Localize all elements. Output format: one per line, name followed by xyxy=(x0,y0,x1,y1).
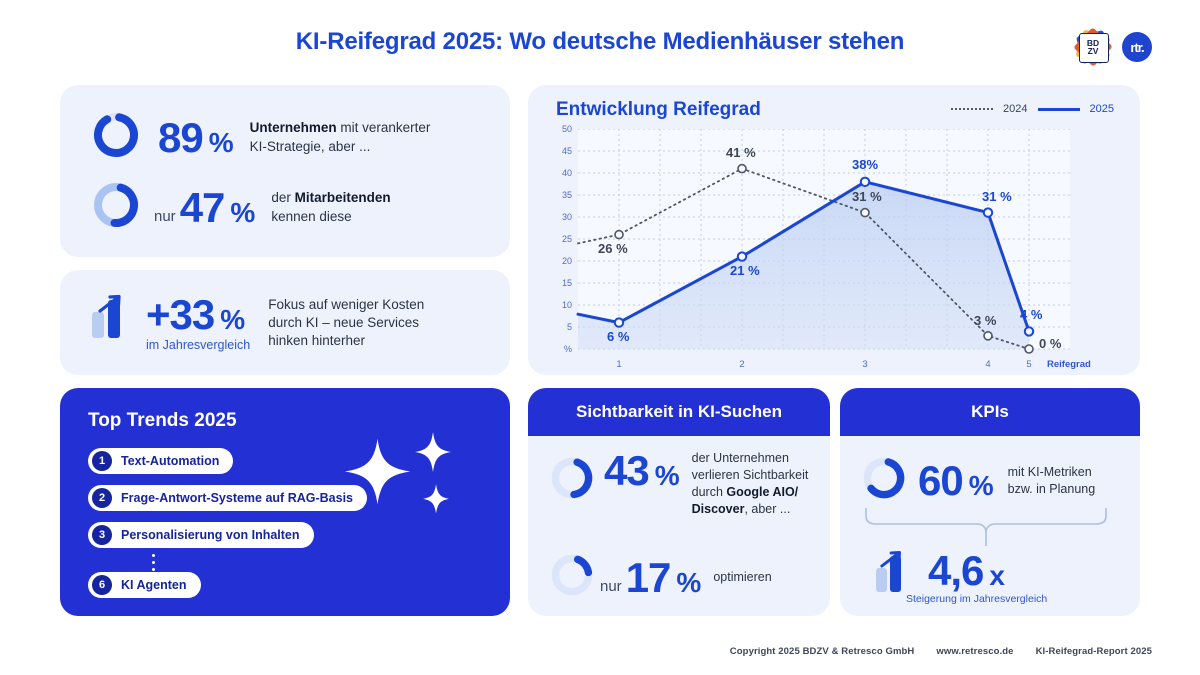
growth-desc-line1: Fokus auf weniger Kosten xyxy=(268,297,424,312)
retresco-logo: rtr. xyxy=(1122,32,1152,62)
stat-60-unit: % xyxy=(969,470,994,502)
chart-title: Entwicklung Reifegrad xyxy=(556,99,761,121)
legend-2024-label: 2024 xyxy=(1003,103,1027,115)
legend-2024-swatch xyxy=(951,108,993,110)
chart-label-2025-1: 6 % xyxy=(607,329,629,344)
chart-point-2024-4 xyxy=(984,332,992,340)
bdzv-logo: BD ZV xyxy=(1076,30,1110,64)
stat-89-value: 89 xyxy=(158,117,203,159)
growth-unit: % xyxy=(220,304,245,336)
trend-item-1-number: 1 xyxy=(92,451,112,471)
stat-60-description: mit KI-Metriken bzw. in Planung xyxy=(1008,464,1096,498)
trend-item-6-label: KI Agenten xyxy=(121,578,187,592)
kpi-card-title: KPIs xyxy=(840,388,1140,436)
sparkles-icon xyxy=(338,424,468,534)
infographic-page: KI-Reifegrad 2025: Wo deutsche Medienhäu… xyxy=(0,0,1200,675)
growth-value: +33 xyxy=(146,294,214,336)
trends-ellipsis-icon xyxy=(152,554,155,571)
kpi-growth-unit: x xyxy=(989,560,1005,592)
donut-47-icon xyxy=(90,179,142,236)
stat-17-value: 17 xyxy=(626,557,671,599)
strategy-card: 89 % Unternehmen mit verankerter KI-Stra… xyxy=(60,85,510,257)
page-title: KI-Reifegrad 2025: Wo deutsche Medienhäu… xyxy=(0,28,1200,56)
xtick-2: 2 xyxy=(732,359,752,370)
header: KI-Reifegrad 2025: Wo deutsche Medienhäu… xyxy=(0,0,1200,80)
chart-point-2024-5 xyxy=(1025,345,1033,353)
chart-label-2024-1: 26 % xyxy=(598,241,628,256)
xtick-3: 3 xyxy=(855,359,875,370)
chart-point-2025-3 xyxy=(861,178,869,186)
stat-47-description: der Mitarbeitenden kennen diese xyxy=(271,189,390,225)
chart-plot: 50 45 40 35 30 25 20 15 10 5 % xyxy=(550,129,1090,429)
stat-89-desc-line2: KI-Strategie, aber ... xyxy=(250,139,371,154)
legend-2025-label: 2025 xyxy=(1090,103,1114,115)
kpi-growth-sublabel: Steigerung im Jahresvergleich xyxy=(906,593,1047,605)
chart-point-2025-2 xyxy=(738,252,746,260)
chart-point-2025-1 xyxy=(615,318,623,326)
chart-legend: 2024 2025 xyxy=(951,103,1114,115)
donut-89-icon xyxy=(90,109,142,166)
chart-xaxis-label: Reifegrad xyxy=(1047,359,1091,370)
donut-43-icon xyxy=(548,454,596,507)
stat-43-desc-line3-pre: durch xyxy=(692,485,727,499)
stat-17-prefix: nur xyxy=(600,578,622,599)
stat-47-desc-line2: kennen diese xyxy=(271,209,351,224)
stat-43-value: 43 xyxy=(604,450,649,492)
stat-47-value: 47 xyxy=(180,187,225,229)
chart-label-2025-5: 4 % xyxy=(1020,307,1042,322)
xtick-4: 4 xyxy=(978,359,998,370)
stat-43-desc-line4-strong: Discover xyxy=(692,502,745,516)
stat-43-desc-line3-strong: Google AIO/ xyxy=(726,485,798,499)
chart-point-2025-5 xyxy=(1025,327,1033,335)
stat-17: nur 17 % optimieren xyxy=(548,551,772,604)
xtick-5: 5 xyxy=(1019,359,1039,370)
trend-item-3[interactable]: 3 Personalisierung von Inhalten xyxy=(88,522,314,548)
stat-60-value: 60 xyxy=(918,460,963,502)
growth-sublabel: im Jahresvergleich xyxy=(146,338,250,352)
stat-47-desc-pre: der xyxy=(271,190,294,205)
stat-60-desc-line1: mit KI-Metriken xyxy=(1008,465,1092,479)
trend-item-6-number: 6 xyxy=(92,575,112,595)
chart-card: Entwicklung Reifegrad 2024 2025 50 45 40… xyxy=(528,85,1140,375)
stat-60-desc-line2: bzw. in Planung xyxy=(1008,482,1096,496)
donut-60-icon xyxy=(860,454,908,507)
stat-89-description: Unternehmen mit verankerter KI-Strategie… xyxy=(250,119,431,155)
stat-47: nur 47 % der Mitarbeitenden kennen diese xyxy=(90,179,391,236)
growth-desc-line2: durch KI – neue Services xyxy=(268,315,419,330)
bdzv-logo-line2: ZV xyxy=(1088,47,1099,55)
stat-43-description: der Unternehmen verlieren Sichtbarkeit d… xyxy=(692,450,809,518)
stat-43-desc-line4-rest: , aber ... xyxy=(744,502,790,516)
stat-43-desc-line1: der Unternehmen xyxy=(692,451,789,465)
stat-43: 43 % der Unternehmen verlieren Sichtbark… xyxy=(548,450,808,518)
footer: Copyright 2025 BDZV & Retresco GmbH www.… xyxy=(730,646,1152,657)
chart-svg xyxy=(550,129,1090,355)
stat-89-desc-strong: Unternehmen xyxy=(250,120,337,135)
xtick-1: 1 xyxy=(609,359,629,370)
chart-label-2025-3: 38% xyxy=(852,157,878,172)
trend-item-6[interactable]: 6 KI Agenten xyxy=(88,572,201,598)
stat-89-desc-rest: mit verankerter xyxy=(337,120,431,135)
footer-website[interactable]: www.retresco.de xyxy=(936,646,1013,657)
chart-label-2025-4: 31 % xyxy=(982,189,1012,204)
stat-43-unit: % xyxy=(655,460,680,492)
stat-89: 89 % Unternehmen mit verankerter KI-Stra… xyxy=(90,109,430,166)
stat-47-desc-strong: Mitarbeitenden xyxy=(295,190,391,205)
chart-label-2025-2: 21 % xyxy=(730,263,760,278)
growth-stat: +33 % im Jahresvergleich Fokus auf wenig… xyxy=(90,294,424,352)
chart-label-2024-2: 41 % xyxy=(726,145,756,160)
footer-copyright: Copyright 2025 BDZV & Retresco GmbH xyxy=(730,646,915,657)
growth-card: +33 % im Jahresvergleich Fokus auf wenig… xyxy=(60,270,510,375)
kpi-card: KPIs 60 % mit KI-Metriken bzw. in Planun… xyxy=(840,388,1140,616)
trend-item-2-number: 2 xyxy=(92,488,112,508)
kpi-growth: 4,6 x Steigerung im Jahresvergleich xyxy=(874,550,1047,605)
legend-2025-swatch xyxy=(1038,108,1080,111)
growth-desc-line3: hinken hinterher xyxy=(268,333,365,348)
kpi-bar-growth-icon xyxy=(874,550,912,592)
donut-17-icon xyxy=(548,551,596,604)
trend-item-1[interactable]: 1 Text-Automation xyxy=(88,448,233,474)
growth-description: Fokus auf weniger Kosten durch KI – neue… xyxy=(268,296,424,351)
kpi-growth-value: 4,6 xyxy=(928,550,983,592)
logo-group: BD ZV rtr. xyxy=(1076,30,1152,64)
trends-title: Top Trends 2025 xyxy=(88,410,237,432)
visibility-card-title: Sichtbarkeit in KI-Suchen xyxy=(528,388,830,436)
stat-17-unit: % xyxy=(676,567,701,599)
trend-item-3-label: Personalisierung von Inhalten xyxy=(121,528,300,542)
chart-label-2024-5: 0 % xyxy=(1039,336,1061,351)
footer-report: KI-Reifegrad-Report 2025 xyxy=(1036,646,1152,657)
stat-89-unit: % xyxy=(209,127,234,159)
chart-point-2024-1 xyxy=(615,231,623,239)
trends-card: Top Trends 2025 1 Text-Automation 2 Frag… xyxy=(60,388,510,616)
kpi-brace-connector xyxy=(864,506,1116,548)
trend-item-2-label: Frage-Antwort-Systeme auf RAG-Basis xyxy=(121,491,353,505)
chart-point-2024-2 xyxy=(738,165,746,173)
bar-growth-icon xyxy=(90,294,132,338)
chart-label-2024-4: 3 % xyxy=(974,313,996,328)
stat-43-desc-line2: verlieren Sichtbarkeit xyxy=(692,468,809,482)
chart-point-2025-4 xyxy=(984,208,992,216)
stat-47-unit: % xyxy=(230,197,255,229)
stat-60: 60 % mit KI-Metriken bzw. in Planung xyxy=(860,454,1095,507)
chart-label-2024-3: 31 % xyxy=(852,189,882,204)
stat-47-prefix: nur xyxy=(154,208,176,229)
stat-17-description: optimieren xyxy=(713,569,771,586)
trend-item-3-number: 3 xyxy=(92,525,112,545)
visibility-card: Sichtbarkeit in KI-Suchen 43 % der Unter… xyxy=(528,388,830,616)
chart-point-2024-3 xyxy=(861,209,869,217)
trend-item-1-label: Text-Automation xyxy=(121,454,219,468)
trend-item-2[interactable]: 2 Frage-Antwort-Systeme auf RAG-Basis xyxy=(88,485,367,511)
